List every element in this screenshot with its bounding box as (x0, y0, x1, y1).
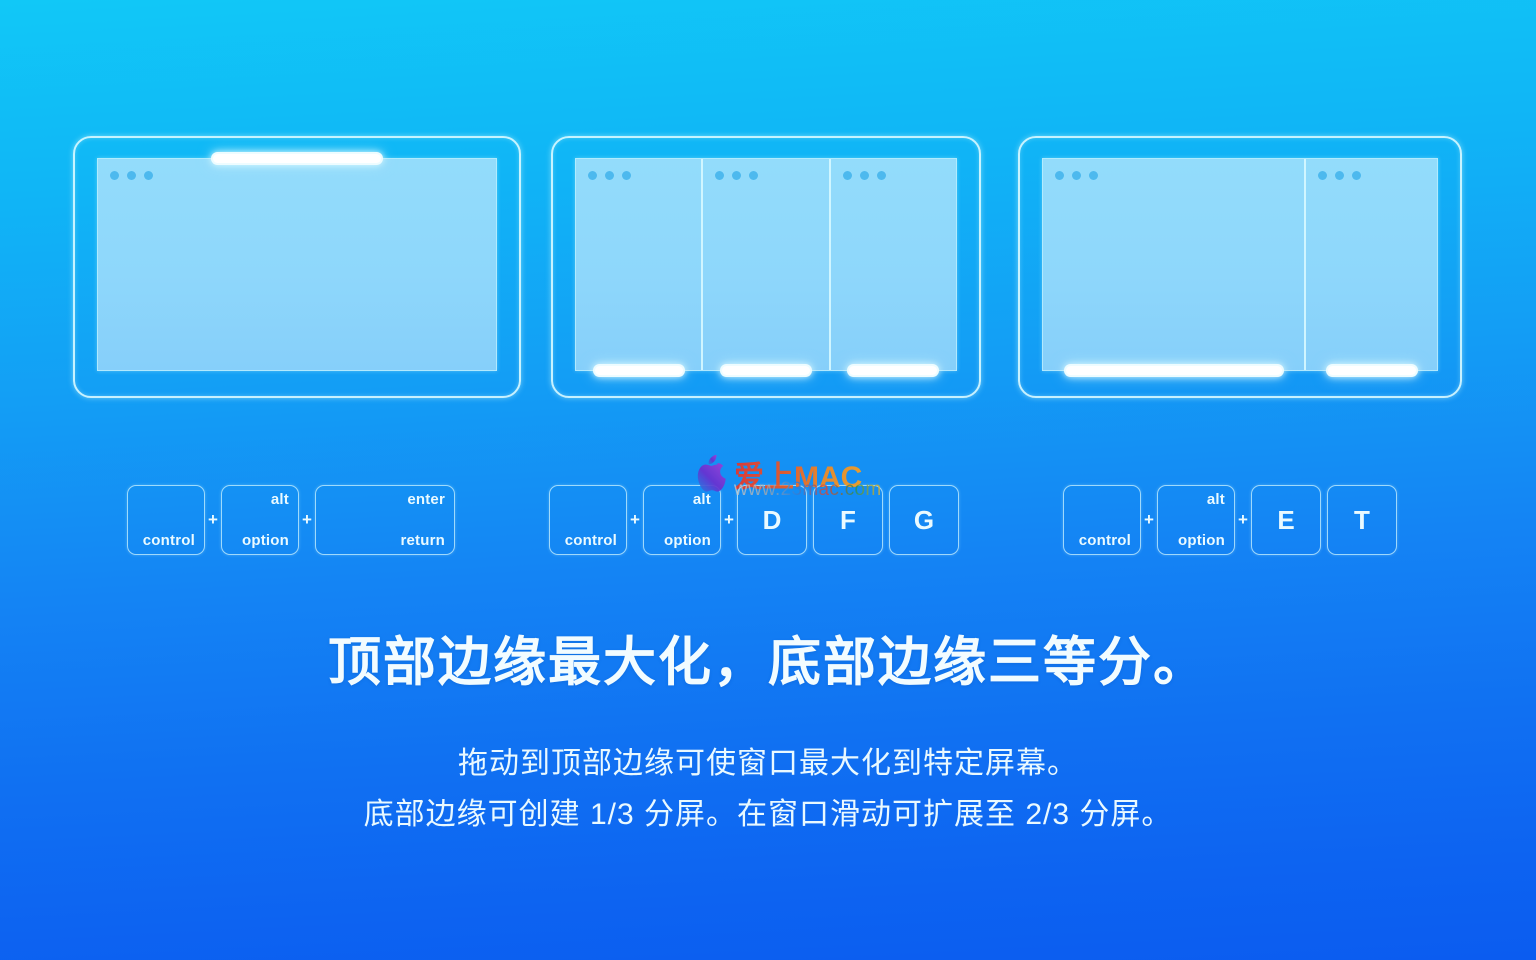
traffic-light-dots (1055, 171, 1098, 180)
diagram-thirds-frame (551, 136, 981, 398)
shortcut-group-two-thirds: control + alt option + E T (1063, 482, 1397, 558)
traffic-light-close-icon (588, 171, 597, 180)
key-option-label: option (242, 532, 289, 549)
bottom-edge-drop-indicator (1064, 364, 1284, 377)
traffic-light-close-icon (1055, 171, 1064, 180)
traffic-light-minimize-icon (860, 171, 869, 180)
page-subline-2: 底部边缘可创建 1/3 分屏。在窗口滑动可扩展至 2/3 分屏。 (0, 793, 1536, 837)
shortcut-group-thirds: control + alt option + D F G (549, 482, 959, 558)
bottom-edge-drop-indicator (720, 364, 812, 377)
traffic-light-close-icon (110, 171, 119, 180)
key-g[interactable]: G (889, 485, 959, 555)
plus-separator: + (627, 510, 643, 530)
key-option-alt-label: alt (271, 491, 289, 508)
traffic-light-zoom-icon (1352, 171, 1361, 180)
key-e[interactable]: E (1251, 485, 1321, 555)
traffic-light-zoom-icon (877, 171, 886, 180)
plus-separator: + (721, 510, 737, 530)
key-control[interactable]: control (127, 485, 205, 555)
bottom-edge-drop-indicator (593, 364, 685, 377)
key-f[interactable]: F (813, 485, 883, 555)
key-control[interactable]: control (1063, 485, 1141, 555)
key-g-label: G (890, 486, 958, 554)
traffic-light-dots (715, 171, 758, 180)
key-option-alt-label: alt (693, 491, 711, 508)
key-d[interactable]: D (737, 485, 807, 555)
plus-separator: + (1141, 510, 1157, 530)
diagram-maximize-screen (97, 158, 497, 371)
key-t[interactable]: T (1327, 485, 1397, 555)
key-control-label: control (1079, 532, 1131, 549)
diagram-two-thirds-frame (1018, 136, 1462, 398)
traffic-light-minimize-icon (127, 171, 136, 180)
plus-separator: + (299, 510, 315, 530)
key-t-label: T (1328, 486, 1396, 554)
key-option[interactable]: alt option (1157, 485, 1235, 555)
traffic-light-dots (843, 171, 886, 180)
diagram-maximize-frame (73, 136, 521, 398)
traffic-light-zoom-icon (144, 171, 153, 180)
traffic-light-dots (588, 171, 631, 180)
traffic-light-zoom-icon (749, 171, 758, 180)
traffic-light-minimize-icon (1072, 171, 1081, 180)
diagram-two-thirds-screen (1042, 158, 1438, 371)
traffic-light-dots (110, 171, 153, 180)
page-headline: 顶部边缘最大化，底部边缘三等分。 (0, 632, 1536, 695)
key-return-label: return (400, 532, 445, 549)
key-control-label: control (143, 532, 195, 549)
key-control[interactable]: control (549, 485, 627, 555)
key-option[interactable]: alt option (643, 485, 721, 555)
plus-separator: + (1235, 510, 1251, 530)
window-pane-third-1 (576, 159, 703, 370)
diagram-thirds-screen (575, 158, 957, 371)
traffic-light-dots (1318, 171, 1361, 180)
key-option-label: option (664, 532, 711, 549)
traffic-light-close-icon (843, 171, 852, 180)
bottom-edge-drop-indicator (1326, 364, 1418, 377)
window-pane-third-2 (703, 159, 830, 370)
traffic-light-close-icon (1318, 171, 1327, 180)
key-control-label: control (565, 532, 617, 549)
window-pane-remaining-third (1306, 159, 1437, 370)
bottom-edge-drop-indicator (847, 364, 939, 377)
keyboard-shortcuts-row: control + alt option + enter return cont… (0, 482, 1536, 558)
key-option-alt-label: alt (1207, 491, 1225, 508)
traffic-light-minimize-icon (605, 171, 614, 180)
key-d-label: D (738, 486, 806, 554)
shortcut-group-maximize: control + alt option + enter return (127, 482, 455, 558)
traffic-light-close-icon (715, 171, 724, 180)
window-pane-third-3 (831, 159, 956, 370)
window-pane-full (98, 159, 496, 370)
key-e-label: E (1252, 486, 1320, 554)
key-f-label: F (814, 486, 882, 554)
key-return[interactable]: enter return (315, 485, 455, 555)
traffic-light-minimize-icon (732, 171, 741, 180)
traffic-light-minimize-icon (1335, 171, 1344, 180)
plus-separator: + (205, 510, 221, 530)
traffic-light-zoom-icon (622, 171, 631, 180)
key-return-enter-label: enter (407, 491, 445, 508)
key-option[interactable]: alt option (221, 485, 299, 555)
traffic-light-zoom-icon (1089, 171, 1098, 180)
window-layout-diagrams (0, 136, 1536, 398)
key-option-label: option (1178, 532, 1225, 549)
page-subline-1: 拖动到顶部边缘可使窗口最大化到特定屏幕。 (0, 742, 1536, 786)
top-edge-drop-indicator (211, 152, 383, 165)
window-pane-two-thirds (1043, 159, 1306, 370)
